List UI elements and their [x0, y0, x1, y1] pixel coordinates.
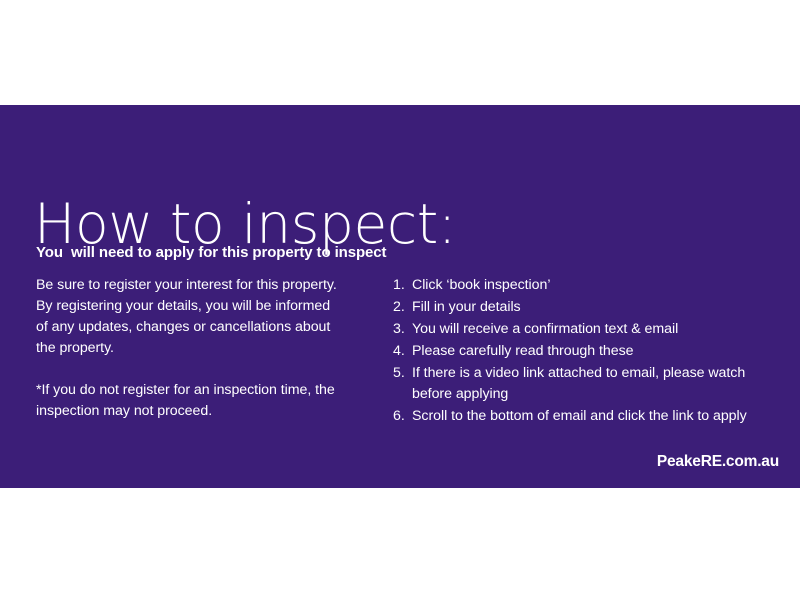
- list-item: If there is a video link attached to ema…: [393, 363, 768, 405]
- right-column: Click ‘book inspection’ Fill in your det…: [393, 275, 768, 428]
- inspection-steps-list: Click ‘book inspection’ Fill in your det…: [393, 275, 768, 427]
- registration-paragraph: Be sure to register your interest for th…: [36, 275, 341, 359]
- registration-disclaimer: *If you do not register for an inspectio…: [36, 380, 341, 422]
- subheading: You will need to apply for this property…: [36, 243, 386, 263]
- list-item: Please carefully read through these: [393, 341, 768, 362]
- purple-banner: How to inspect: You will need to apply f…: [0, 105, 800, 488]
- list-item: Fill in your details: [393, 297, 768, 318]
- brand-website: PeakeRE.com.au: [657, 453, 779, 471]
- list-item: You will receive a confirmation text & e…: [393, 319, 768, 340]
- slide-canvas: How to inspect: You will need to apply f…: [0, 0, 800, 600]
- left-column: Be sure to register your interest for th…: [36, 275, 341, 422]
- list-item: Scroll to the bottom of email and click …: [393, 406, 768, 427]
- list-item: Click ‘book inspection’: [393, 275, 768, 296]
